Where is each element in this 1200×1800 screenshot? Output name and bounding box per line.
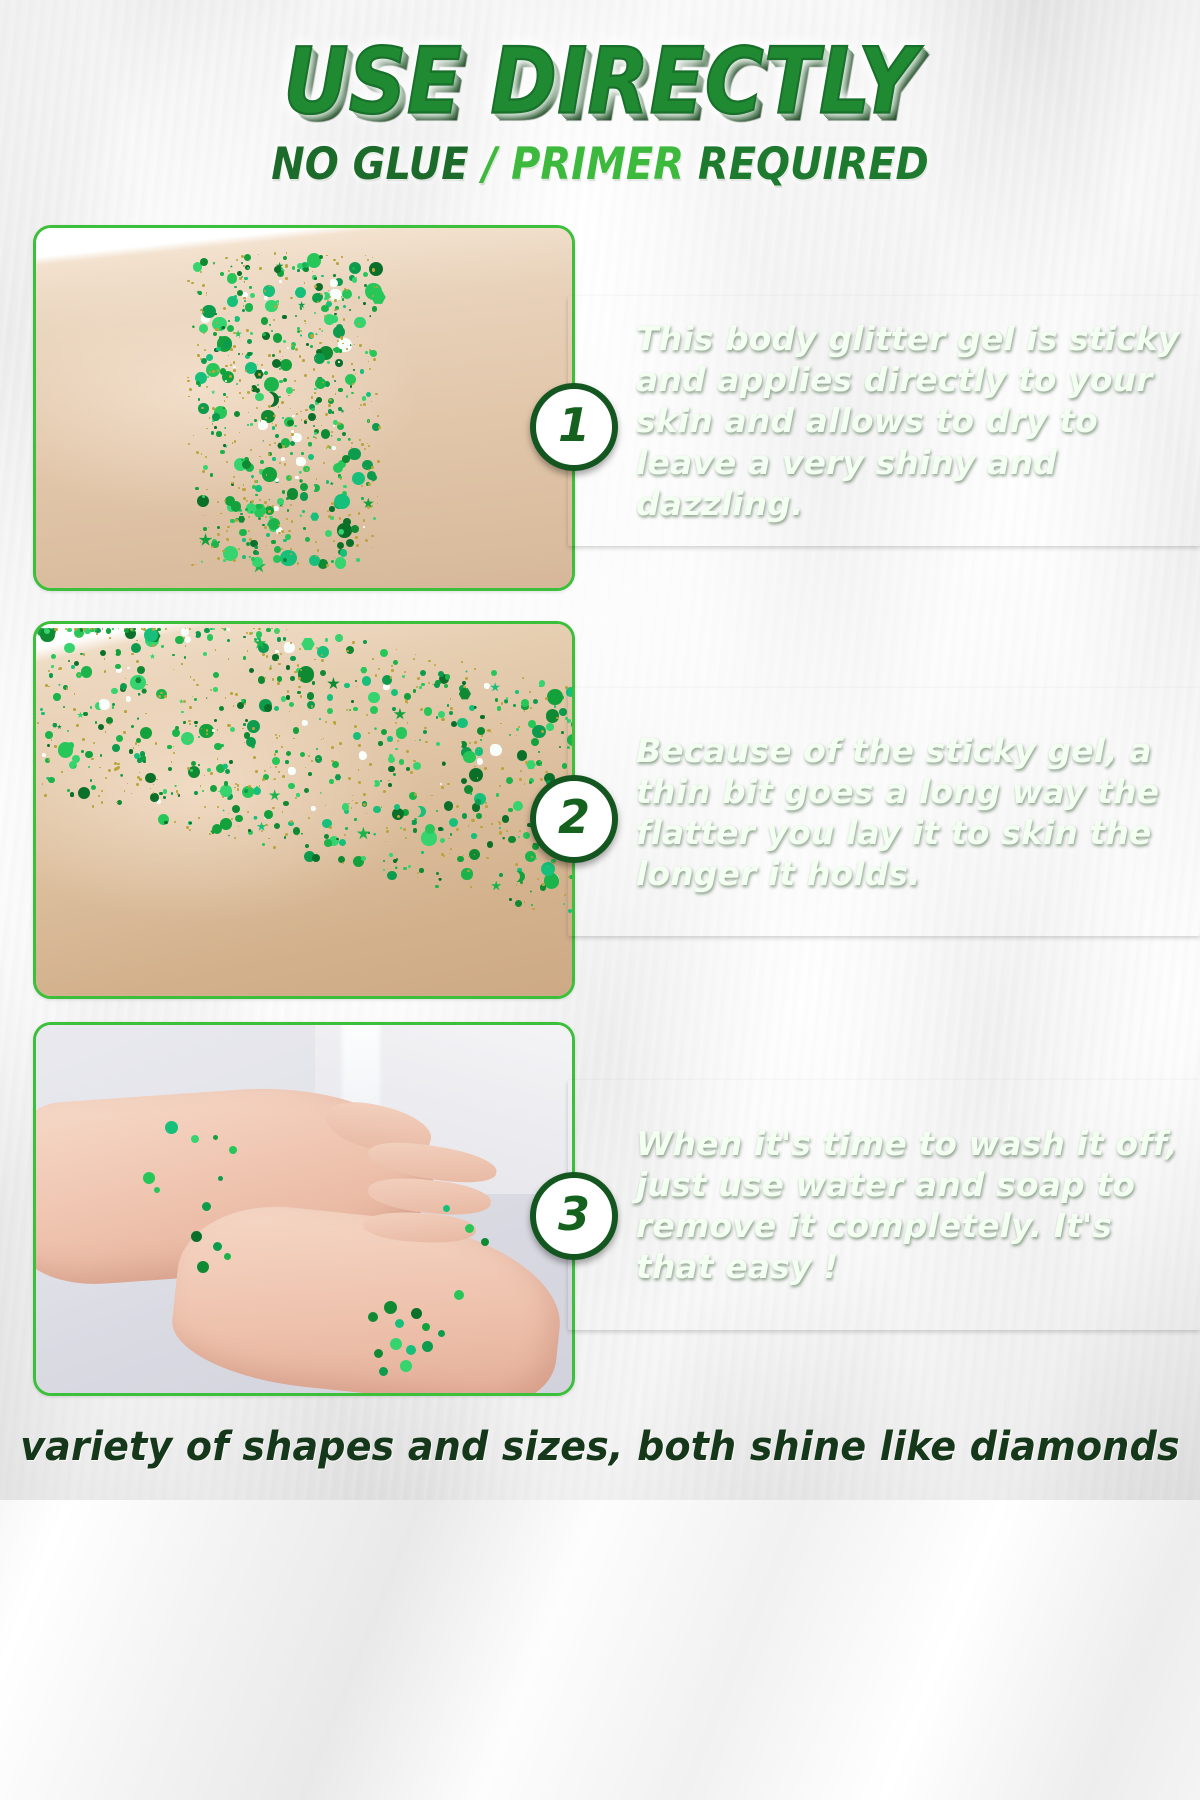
glitter-particle (314, 432, 317, 435)
glitter-particle (278, 532, 280, 534)
glitter-particle (253, 756, 256, 759)
glitter-particle (213, 687, 218, 692)
glitter-particle (363, 526, 365, 528)
glitter-particle (266, 655, 268, 657)
glitter-particle (328, 515, 331, 518)
glitter-particle (209, 833, 211, 835)
glitter-particle (65, 628, 67, 630)
glitter-particle (321, 330, 324, 333)
glitter-particle (368, 692, 380, 704)
glitter-particle (130, 628, 133, 631)
glitter-particle (381, 729, 387, 735)
glitter-particle (278, 303, 280, 305)
glitter-particle (320, 792, 323, 795)
glitter-particle (305, 419, 307, 421)
glitter-particle (305, 844, 309, 848)
glitter-particle (218, 541, 220, 543)
glitter-particle (233, 345, 236, 348)
glitter-particle (302, 359, 305, 362)
glitter-particle (221, 628, 223, 630)
glitter-particle (206, 428, 207, 429)
glitter-particle (198, 398, 200, 400)
glitter-particle (248, 829, 251, 832)
glitter-particle (524, 783, 525, 784)
glitter-cluster-2 (36, 624, 572, 996)
glitter-particle (222, 809, 225, 812)
glitter-particle (476, 813, 482, 819)
glitter-particle (326, 564, 329, 567)
glitter-particle (480, 715, 484, 719)
glitter-particle (224, 400, 226, 402)
glitter-particle (54, 745, 56, 747)
glitter-particle (314, 277, 317, 280)
glitter-particle (230, 692, 233, 695)
glitter-particle (233, 332, 236, 335)
glitter-particle (384, 1301, 397, 1314)
glitter-particle (333, 259, 336, 262)
glitter-particle (59, 667, 62, 670)
glitter-particle (300, 483, 309, 492)
glitter-particle (227, 273, 238, 284)
glitter-particle (363, 403, 366, 406)
glitter-particle (136, 783, 139, 786)
glitter-particle (279, 280, 281, 282)
glitter-particle (327, 708, 333, 714)
glitter-particle (383, 869, 385, 871)
glitter-particle (288, 783, 294, 789)
glitter-particle (314, 388, 316, 390)
glitter-particle (212, 729, 215, 732)
glitter-particle (234, 787, 236, 789)
glitter-particle (338, 388, 343, 393)
glitter-particle (172, 729, 180, 737)
glitter-particle (238, 826, 239, 827)
glitter-particle (124, 790, 125, 791)
glitter-particle (521, 699, 529, 707)
glitter-particle (158, 695, 161, 698)
glitter-particle (290, 656, 296, 662)
glitter-particle (200, 560, 203, 563)
glitter-particle (91, 785, 96, 790)
glitter-particle (67, 628, 71, 632)
glitter-particle (359, 408, 360, 409)
glitter-particle (195, 725, 197, 727)
glitter-particle (513, 801, 523, 811)
glitter-particle (296, 793, 299, 796)
glitter-particle (350, 385, 352, 387)
glitter-particle (296, 457, 305, 466)
glitter-particle (117, 766, 120, 769)
glitter-particle (247, 391, 250, 394)
glitter-particle (264, 371, 268, 375)
glitter-particle (504, 699, 509, 704)
glitter-particle (242, 460, 251, 469)
glitter-particle (325, 530, 332, 537)
glitter-particle (242, 538, 246, 542)
glitter-particle (457, 856, 463, 862)
glitter-particle (226, 530, 228, 532)
glitter-particle (68, 660, 70, 662)
glitter-particle (174, 821, 176, 823)
glitter-particle (523, 832, 530, 839)
glitter-particle (324, 834, 329, 839)
glitter-particle (165, 1121, 178, 1134)
glitter-particle (346, 709, 348, 711)
glitter-particle (181, 732, 194, 745)
glitter-particle (438, 671, 444, 677)
glitter-particle (471, 833, 477, 839)
glitter-particle (66, 687, 69, 690)
glitter-particle (181, 663, 182, 664)
glitter-particle (359, 751, 367, 759)
glitter-particle (295, 348, 298, 351)
glitter-particle (163, 789, 168, 794)
glitter-particle (319, 328, 321, 330)
glitter-particle (366, 813, 368, 815)
glitter-particle (531, 904, 533, 906)
glitter-particle (290, 297, 293, 300)
glitter-particle (308, 413, 316, 421)
glitter-particle (456, 828, 459, 831)
glitter-particle (362, 676, 371, 685)
glitter-particle (286, 751, 291, 756)
glitter-particle (378, 426, 381, 429)
glitter-particle (351, 392, 354, 395)
glitter-particle (143, 760, 145, 762)
glitter-particle (64, 643, 75, 654)
glitter-particle (290, 441, 295, 446)
glitter-particle (100, 754, 103, 757)
glitter-particle (282, 445, 285, 448)
glitter-particle (203, 527, 207, 531)
glitter-particle (189, 706, 192, 709)
glitter-particle (386, 830, 388, 832)
glitter-particle (329, 399, 331, 401)
glitter-particle (44, 628, 50, 634)
glitter-particle (562, 763, 567, 768)
glitter-particle (363, 519, 365, 521)
glitter-particle (242, 353, 244, 355)
glitter-particle (233, 273, 234, 274)
glitter-particle (282, 356, 284, 358)
glitter-particle (273, 779, 274, 780)
glitter-particle (545, 697, 548, 700)
glitter-particle (174, 785, 176, 787)
glitter-particle (491, 670, 498, 677)
glitter-particle (95, 721, 97, 723)
glitter-particle (292, 266, 295, 269)
glitter-particle (403, 867, 407, 871)
glitter-particle (275, 478, 278, 481)
glitter-particle (115, 649, 121, 655)
glitter-particle (274, 546, 281, 553)
glitter-particle (232, 805, 240, 813)
glitter-particle (243, 723, 246, 726)
glitter-particle (371, 547, 372, 548)
glitter-particle (407, 722, 408, 723)
glitter-particle (448, 838, 450, 840)
glitter-particle (308, 817, 310, 819)
glitter-particle (188, 720, 191, 723)
glitter-particle (219, 706, 224, 711)
glitter-particle (203, 515, 204, 516)
glitter-particle (262, 778, 265, 781)
glitter-particle (363, 302, 366, 305)
glitter-particle (191, 282, 193, 284)
glitter-particle (284, 642, 295, 653)
glitter-particle (361, 497, 363, 499)
glitter-particle (233, 705, 235, 707)
glitter-particle (375, 393, 378, 396)
glitter-particle (131, 793, 132, 794)
glitter-particle (48, 670, 50, 672)
glitter-particle (356, 686, 357, 687)
glitter-particle (377, 503, 378, 504)
glitter-particle (306, 343, 309, 346)
glitter-particle (264, 770, 266, 772)
glitter-particle (52, 723, 57, 728)
glitter-particle (529, 781, 533, 785)
glitter-particle (203, 465, 208, 470)
glitter-particle (259, 785, 261, 787)
glitter-particle (282, 811, 284, 813)
glitter-particle (465, 1224, 474, 1233)
glitter-particle (228, 813, 229, 814)
glitter-particle (540, 778, 543, 781)
subtitle-part-no-glue: NO GLUE (271, 139, 482, 191)
glitter-particle (226, 538, 228, 540)
glitter-particle (359, 439, 360, 440)
glitter-particle (252, 727, 255, 730)
glitter-particle (328, 290, 329, 291)
glitter-particle (266, 628, 271, 633)
glitter-particle (96, 633, 97, 634)
glitter-particle (230, 364, 232, 366)
glitter-particle (228, 270, 230, 272)
glitter-particle (351, 442, 353, 444)
glitter-particle (211, 390, 216, 395)
glitter-particle (311, 396, 313, 398)
glitter-particle (243, 636, 246, 639)
step-badge-2: 2 (530, 775, 618, 863)
glitter-particle (438, 827, 443, 832)
glitter-particle (500, 723, 501, 724)
glitter-particle (137, 758, 141, 762)
glitter-particle (319, 718, 321, 720)
glitter-particle (274, 252, 277, 255)
glitter-particle (554, 705, 556, 707)
glitter-particle (333, 463, 343, 473)
glitter-particle (192, 696, 193, 697)
glitter-particle (300, 492, 309, 501)
glitter-particle (310, 512, 319, 521)
glitter-particle (374, 286, 376, 288)
glitter-particle (321, 275, 323, 277)
glitter-particle (129, 749, 133, 753)
glitter-particle (474, 741, 477, 744)
glitter-particle (294, 425, 296, 427)
glitter-particle (388, 766, 395, 773)
glitter-particle (154, 1187, 160, 1193)
glitter-particle (201, 453, 202, 454)
glitter-particle (203, 652, 207, 656)
glitter-particle (327, 445, 330, 448)
glitter-particle (286, 518, 288, 520)
glitter-particle (502, 815, 509, 822)
glitter-particle (70, 794, 73, 797)
glitter-particle (238, 516, 245, 523)
glitter-particle (150, 788, 151, 789)
glitter-particle (329, 506, 335, 512)
glitter-particle (450, 833, 452, 835)
glitter-particle (216, 431, 221, 436)
glitter-particle (303, 527, 306, 530)
glitter-particle (416, 686, 418, 688)
glitter-particle (127, 783, 128, 784)
glitter-particle (465, 677, 468, 680)
glitter-particle (327, 677, 340, 690)
glitter-particle (299, 514, 303, 518)
glitter-particle (327, 361, 330, 364)
glitter-particle (358, 781, 361, 784)
glitter-particle (342, 455, 350, 463)
glitter-particle (286, 665, 291, 670)
glitter-particle (249, 668, 254, 673)
glitter-particle (270, 767, 271, 768)
step-badge-1: 1 (530, 383, 618, 471)
glitter-particle (258, 517, 262, 521)
glitter-particle (286, 252, 287, 253)
glitter-particle (101, 801, 104, 804)
glitter-particle (408, 865, 411, 868)
glitter-particle (327, 300, 329, 302)
glitter-particle (556, 717, 558, 719)
glitter-particle (207, 634, 213, 640)
glitter-particle (321, 305, 329, 313)
glitter-particle (254, 638, 257, 641)
glitter-particle (515, 863, 518, 866)
glitter-particle (524, 710, 526, 712)
glitter-particle (225, 697, 226, 698)
glitter-particle (406, 1345, 416, 1355)
glitter-particle (460, 741, 467, 748)
glitter-particle (53, 693, 60, 700)
glitter-particle (200, 785, 202, 787)
glitter-particle (340, 478, 342, 480)
glitter-particle (196, 684, 198, 686)
glitter-particle (266, 545, 268, 547)
glitter-particle (387, 736, 392, 741)
glitter-particle (264, 392, 279, 407)
glitter-particle (173, 669, 174, 670)
glitter-particle (99, 699, 109, 709)
glitter-particle (506, 777, 513, 784)
glitter-particle (391, 689, 398, 696)
glitter-particle (255, 494, 258, 497)
glitter-particle (255, 393, 263, 401)
glitter-particle (410, 771, 413, 774)
glitter-particle (449, 853, 450, 854)
glitter-particle (159, 792, 162, 795)
glitter-particle (325, 413, 328, 416)
glitter-particle (300, 411, 301, 412)
glitter-particle (202, 1202, 211, 1211)
glitter-particle (295, 797, 297, 799)
glitter-particle (126, 696, 131, 701)
glitter-particle (509, 734, 511, 736)
glitter-particle (349, 309, 351, 311)
glitter-particle (205, 456, 207, 458)
glitter-particle (279, 350, 282, 353)
glitter-particle (273, 846, 276, 849)
glitter-particle (116, 735, 123, 742)
glitter-particle (217, 533, 220, 536)
glitter-particle (389, 754, 393, 758)
glitter-particle (356, 544, 359, 547)
glitter-particle (354, 344, 355, 345)
glitter-particle (377, 460, 380, 463)
glitter-particle (49, 673, 54, 678)
glitter-particle (340, 549, 347, 556)
glitter-particle (134, 628, 136, 630)
glitter-particle (255, 485, 262, 492)
glitter-particle (292, 415, 294, 417)
step-1-text: This body glitter gel is sticky and appl… (568, 318, 1200, 524)
glitter-particle (449, 818, 458, 827)
glitter-particle (450, 848, 452, 850)
glitter-particle (516, 735, 517, 736)
step-badge-1-number: 1 (558, 402, 590, 448)
glitter-particle (380, 780, 382, 782)
glitter-particle (385, 841, 386, 842)
glitter-particle (367, 443, 368, 444)
glitter-particle (293, 727, 299, 733)
glitter-particle (285, 277, 288, 280)
glitter-particle (244, 277, 247, 280)
glitter-particle (191, 761, 196, 766)
glitter-particle (256, 504, 261, 509)
glitter-particle (235, 693, 238, 696)
glitter-particle (265, 824, 267, 826)
glitter-particle (372, 257, 373, 258)
glitter-particle (298, 677, 300, 679)
glitter-particle (112, 628, 114, 630)
glitter-particle (250, 293, 255, 298)
glitter-particle (346, 539, 354, 547)
glitter-particle (369, 368, 371, 370)
glitter-particle (111, 688, 118, 695)
glitter-particle (288, 395, 289, 396)
glitter-particle (438, 878, 441, 881)
glitter-particle (273, 415, 276, 418)
glitter-particle (273, 555, 281, 563)
glitter-particle (188, 740, 190, 742)
glitter-particle (421, 683, 425, 687)
glitter-particle (136, 738, 141, 743)
glitter-particle (233, 366, 236, 369)
glitter-particle (435, 885, 438, 888)
glitter-particle (275, 434, 279, 438)
glitter-particle (268, 405, 271, 408)
glitter-particle (283, 801, 288, 806)
glitter-particle (295, 476, 298, 479)
glitter-particle (236, 259, 239, 262)
glitter-particle (230, 727, 235, 732)
glitter-particle (531, 856, 533, 858)
glitter-particle (262, 440, 264, 442)
glitter-particle (286, 387, 293, 394)
glitter-particle (546, 709, 559, 722)
